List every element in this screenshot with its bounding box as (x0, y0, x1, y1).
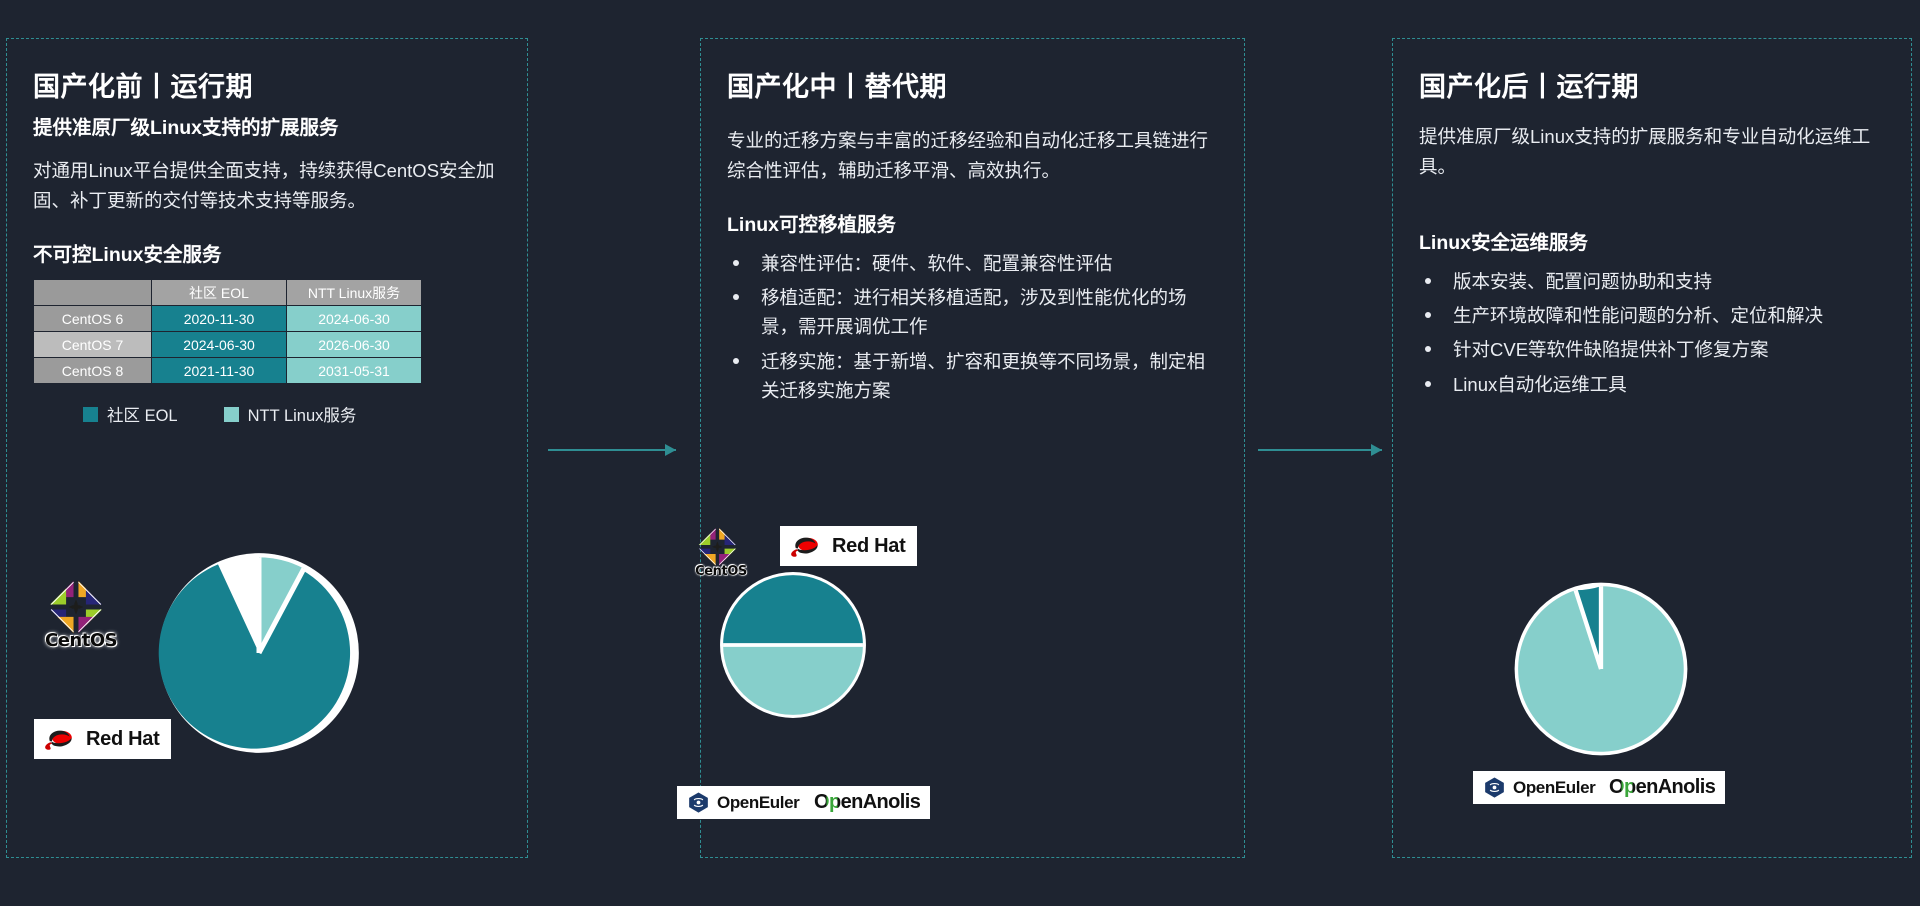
list-item: 移植适配：进行相关移植适配，涉及到性能优化的场景，需开展调优工作 (727, 283, 1218, 341)
openanolis-wordmark: OpenAnolis (1609, 776, 1715, 799)
list-item: 版本安装、配置问题协助和支持 (1419, 267, 1885, 296)
table-col-ntt: NTT Linux服务 (287, 280, 422, 306)
list-item: 迁移实施：基于新增、扩容和更换等不同场景，制定相关迁移实施方案 (727, 347, 1218, 405)
table-cell-eol: 2021-11-30 (152, 358, 287, 384)
list-item: 针对CVE等软件缺陷提供补丁修复方案 (1419, 335, 1885, 364)
openeuler-wordmark: OpenEuler (717, 793, 799, 813)
legend-item-eol: 社区 EOL (83, 402, 178, 426)
table-cell-os: CentOS 6 (34, 306, 152, 332)
table-col-eol: 社区 EOL (152, 280, 287, 306)
panel-title-1: 国产化前丨运行期 (33, 65, 501, 104)
slide-canvas: 国产化前丨运行期 提供准原厂级Linux支持的扩展服务 对通用Linux平台提供… (0, 0, 1920, 906)
panel-body-3: 提供准原厂级Linux支持的扩展服务和专业自动化运维工具。 (1419, 122, 1885, 182)
table-cell-ntt: 2031-05-31 (287, 358, 422, 384)
section-head-1: 不可控Linux安全服务 (33, 238, 501, 267)
legend-label-eol: 社区 EOL (107, 402, 178, 426)
arrow-shaft (548, 449, 676, 451)
table-row: CentOS 7 2024-06-30 2026-06-30 (34, 332, 422, 358)
openeuler-wordmark: OpenEuler (1513, 778, 1595, 798)
panel-subtitle-1: 提供准原厂级Linux支持的扩展服务 (33, 114, 501, 142)
table-cell-ntt: 2024-06-30 (287, 306, 422, 332)
openanolis-logo-3: OpenAnolis (1599, 771, 1725, 804)
table-cell-eol: 2024-06-30 (152, 332, 287, 358)
panel-title-3: 国产化后丨运行期 (1419, 65, 1885, 104)
openanolis-wordmark: OpenAnolis (814, 791, 920, 814)
redhat-icon (43, 726, 79, 752)
table-col-blank (34, 280, 152, 306)
centos-icon (45, 576, 107, 638)
openeuler-icon (687, 791, 710, 814)
centos-logo-1: CentOS (45, 576, 117, 651)
pie-legend: 社区 EOL NTT Linux服务 (33, 402, 501, 426)
pie-chart-stage-2 (717, 569, 869, 721)
legend-label-ntt: NTT Linux服务 (248, 402, 357, 426)
eol-table: 社区 EOL NTT Linux服务 CentOS 6 2020-11-30 2… (33, 279, 422, 384)
table-cell-eol: 2020-11-30 (152, 306, 287, 332)
table-row: CentOS 6 2020-11-30 2024-06-30 (34, 306, 422, 332)
panel-body-2: 专业的迁移方案与丰富的迁移经验和自动化迁移工具链进行综合性评估，辅助迁移平滑、高… (727, 126, 1218, 186)
bullet-list-2: 兼容性评估：硬件、软件、配置兼容性评估 移植适配：进行相关移植适配，涉及到性能优… (727, 249, 1218, 405)
arrow-stage1-to-stage2 (548, 444, 676, 456)
openanolis-logo-2: OpenAnolis (804, 786, 930, 819)
pie-chart-stage-1 (155, 549, 363, 757)
arrow-shaft (1258, 449, 1382, 451)
arrow-head (665, 444, 676, 456)
openeuler-logo-2: OpenEuler (677, 786, 809, 819)
redhat-logo-2: Red Hat (780, 526, 917, 566)
panel-stage-before: 国产化前丨运行期 提供准原厂级Linux支持的扩展服务 对通用Linux平台提供… (6, 38, 528, 858)
table-cell-os: CentOS 8 (34, 358, 152, 384)
legend-swatch-eol (83, 407, 98, 422)
table-row: CentOS 8 2021-11-30 2031-05-31 (34, 358, 422, 384)
pie-chart-stage-3 (1511, 579, 1691, 759)
redhat-logo-1: Red Hat (34, 719, 171, 759)
centos-wordmark: CentOS (45, 630, 117, 651)
list-item: 生产环境故障和性能问题的分析、定位和解决 (1419, 301, 1885, 330)
arrow-head (1371, 444, 1382, 456)
table-header-row: 社区 EOL NTT Linux服务 (34, 280, 422, 306)
legend-item-ntt: NTT Linux服务 (224, 402, 357, 426)
legend-swatch-ntt (224, 407, 239, 422)
section-head-3: Linux安全运维服务 (1419, 226, 1885, 255)
openeuler-icon (1483, 776, 1506, 799)
list-item: Linux自动化运维工具 (1419, 370, 1885, 399)
bullet-list-3: 版本安装、配置问题协助和支持 生产环境故障和性能问题的分析、定位和解决 针对CV… (1419, 267, 1885, 399)
arrow-stage2-to-stage3 (1258, 444, 1382, 456)
list-item: 兼容性评估：硬件、软件、配置兼容性评估 (727, 249, 1218, 278)
panel-stage-after: 国产化后丨运行期 提供准原厂级Linux支持的扩展服务和专业自动化运维工具。 L… (1392, 38, 1912, 858)
panel-stage-during: 国产化中丨替代期 专业的迁移方案与丰富的迁移经验和自动化迁移工具链进行综合性评估… (700, 38, 1245, 858)
redhat-wordmark: Red Hat (86, 728, 159, 751)
openeuler-logo-3: OpenEuler (1473, 771, 1605, 804)
panel-body-1: 对通用Linux平台提供全面支持，持续获得CentOS安全加固、补丁更新的交付等… (33, 156, 501, 216)
table-cell-os: CentOS 7 (34, 332, 152, 358)
panel-title-2: 国产化中丨替代期 (727, 65, 1218, 104)
redhat-wordmark: Red Hat (832, 535, 905, 558)
table-cell-ntt: 2026-06-30 (287, 332, 422, 358)
section-head-2: Linux可控移植服务 (727, 208, 1218, 237)
redhat-icon (789, 533, 825, 559)
